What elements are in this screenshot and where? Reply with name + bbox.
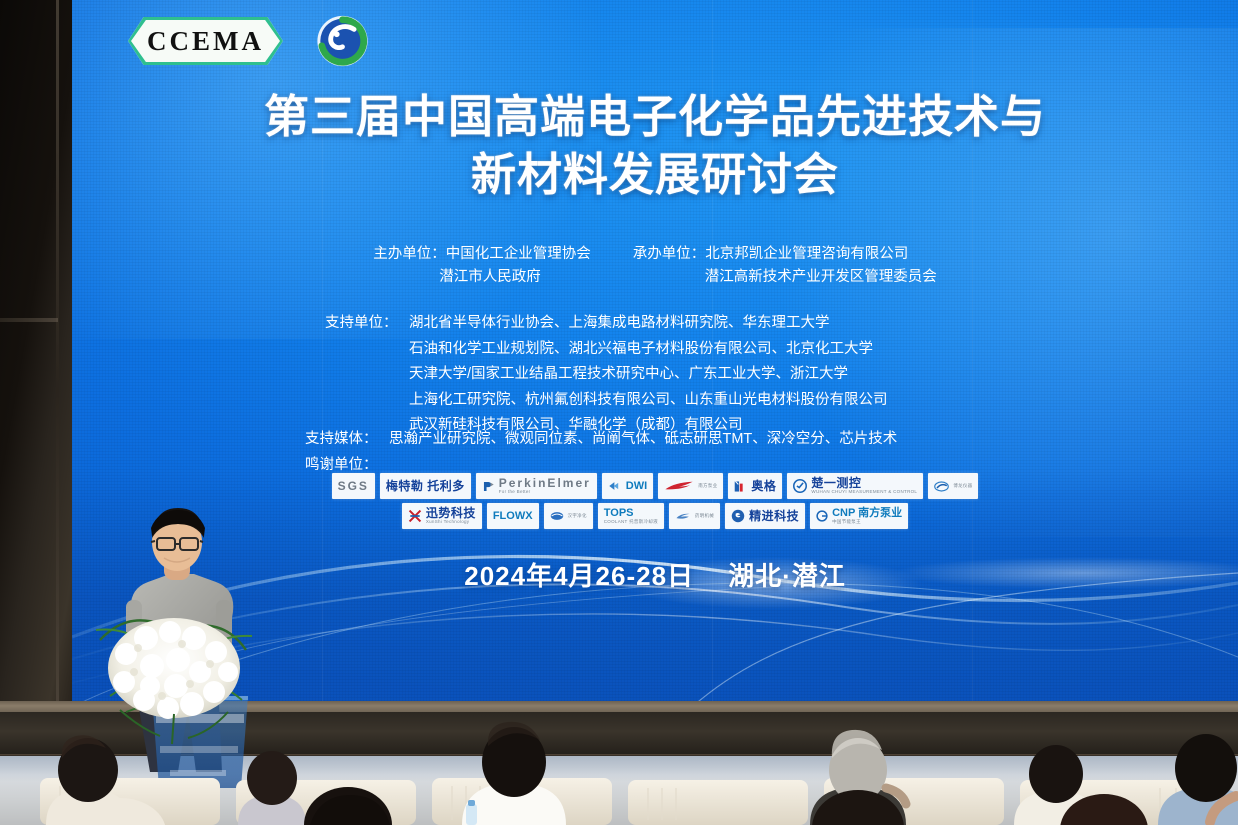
- sponsor-logo-xunshi-tech: 迅势科技XunShi Technology: [402, 503, 482, 529]
- tops-coolant-sublabel: COOLANT 托普斯冷却液: [604, 520, 658, 525]
- supporter-label: 支持单位：: [325, 311, 409, 337]
- slide-title: 第三届中国高端电子化学品先进技术与 新材料发展研讨会: [72, 88, 1238, 203]
- conference-photo: CCEMA 第三届中国高端电子化学品先进技术与 新材料发展研讨会: [0, 0, 1238, 825]
- supporter-line-2: 石油和化学工业规划院、湖北兴福电子材料股份有限公司、北京化工大学: [325, 337, 985, 363]
- jingjin-tech-icon: [731, 509, 745, 523]
- yaoming-machinery-icon: [675, 511, 691, 521]
- host-line-1: 中国化工企业管理协会: [446, 246, 591, 262]
- supporter-line-3: 天津大学/国家工业结晶工程技术研究中心、广东工业大学、浙江大学: [325, 362, 985, 388]
- tops-coolant-label: TOPS: [604, 508, 658, 519]
- host-line-2: 潜江市人民政府: [373, 266, 591, 289]
- coorganizer-line-2: 潜江高新技术产业开发区管理委员会: [633, 266, 937, 289]
- supporter-line-1: 支持单位：湖北省半导体行业协会、上海集成电路材料研究院、华东理工大学: [325, 311, 985, 337]
- mettler-toledo-label: 梅特勒 托利多: [386, 480, 465, 492]
- sponsor-logo-red-bird: 南方泵业: [658, 473, 723, 499]
- chuyi-ceko-label: 楚一测控: [811, 477, 917, 489]
- audience-foreground: [0, 700, 1238, 825]
- media-block: 支持媒体：思瀚产业研究院、微观同位素、尚阐气体、砥志研思TMT、深冷空分、芯片技…: [72, 427, 1238, 478]
- xunshi-tech-icon: [408, 509, 422, 523]
- coorganizer-column: 承办单位：北京邦凯企业管理咨询有限公司 潜江高新技术产业开发区管理委员会: [633, 243, 937, 290]
- audience-member: [462, 722, 566, 825]
- sponsor-logo-perkinelmer: PerkinElmerFor the Better: [476, 473, 597, 499]
- dwi-label: DWI: [626, 481, 647, 492]
- sponsor-row-1: SGS梅特勒 托利多PerkinElmerFor the BetterDWI南方…: [72, 473, 1238, 499]
- sponsor-logo-tops-coolant: TOPSCOOLANT 托普斯冷却液: [598, 503, 664, 529]
- bolong-icon: [934, 480, 949, 493]
- audience-member: [1158, 734, 1238, 825]
- cnp-nanfang-pump-label: CNP 南方泵业: [832, 508, 902, 519]
- cnp-nanfang-pump-icon: [816, 510, 828, 522]
- flowx-label: FLOWX: [493, 511, 533, 522]
- perkinelmer-icon: [482, 480, 495, 493]
- sponsor-logo-mettler-toledo: 梅特勒 托利多: [380, 473, 471, 499]
- coorganizer-line-1: 北京邦凯企业管理咨询有限公司: [705, 246, 908, 262]
- left-wall-seam: [56, 0, 59, 712]
- qianjiang-swirl-icon: [311, 13, 374, 69]
- hanyu-purification-icon: [550, 510, 564, 522]
- perkinelmer-label: PerkinElmer: [499, 477, 591, 489]
- sponsor-logo-hanyu-purification: 汉宇净化: [544, 503, 593, 529]
- slide-logo-bar: CCEMA: [128, 13, 374, 69]
- aoge-label: 奥格: [751, 480, 776, 492]
- sponsor-logo-dwi: DWI: [602, 473, 653, 499]
- sponsor-logo-flowx: FLOWX: [487, 503, 539, 529]
- chuyi-ceko-sublabel: WUHAN CHUYI MEASUREMENT & CONTROL: [811, 490, 917, 495]
- sponsor-logo-aoge: 奥格: [728, 473, 782, 499]
- supporter-line-4: 上海化工研究院、杭州氟创科技有限公司、山东重山光电材料股份有限公司: [325, 388, 985, 414]
- ccema-logo: CCEMA: [128, 17, 283, 65]
- dwi-icon: [608, 480, 622, 492]
- slide-title-line2: 新材料发展研讨会: [102, 146, 1208, 204]
- left-wall-panel: [0, 0, 76, 712]
- media-line: 支持媒体：思瀚产业研究院、微观同位素、尚阐气体、砥志研思TMT、深冷空分、芯片技…: [305, 427, 1005, 453]
- perkinelmer-sublabel: For the Better: [499, 490, 591, 495]
- media-label: 支持媒体：: [305, 427, 389, 453]
- cnp-nanfang-pump-sublabel: 中国节能泵王: [832, 520, 902, 525]
- aoge-icon: [734, 480, 747, 493]
- SGS-label: SGS: [338, 480, 369, 492]
- host-column: 主办单位：中国化工企业管理协会 潜江市人民政府: [373, 243, 591, 290]
- xunshi-tech-sublabel: XunShi Technology: [426, 520, 476, 525]
- event-date: 2024年4月26-28日: [464, 561, 694, 591]
- jingjin-tech-label: 精进科技: [749, 510, 799, 522]
- sponsor-logo-yaoming-machinery: 药明机械: [669, 503, 720, 529]
- sponsor-logo-chuyi-ceko: 楚一测控WUHAN CHUYI MEASUREMENT & CONTROL: [787, 473, 923, 499]
- organizer-block: 主办单位：中国化工企业管理协会 潜江市人民政府 承办单位：北京邦凯企业管理咨询有…: [72, 243, 1238, 290]
- xunshi-tech-label: 迅势科技: [426, 507, 476, 519]
- bolong-sublabel: 博龙仪器: [953, 484, 972, 489]
- chuyi-ceko-icon: [793, 479, 807, 493]
- supporter-text-1: 湖北省半导体行业协会、上海集成电路材料研究院、华东理工大学: [409, 315, 830, 331]
- red-bird-sublabel: 南方泵业: [698, 484, 717, 489]
- sponsor-logo-cnp-nanfang-pump: CNP 南方泵业中国节能泵王: [810, 503, 908, 529]
- media-text: 思瀚产业研究院、微观同位素、尚阐气体、砥志研思TMT、深冷空分、芯片技术: [389, 431, 897, 447]
- supporter-block: 支持单位：湖北省半导体行业协会、上海集成电路材料研究院、华东理工大学 石油和化学…: [72, 311, 1238, 439]
- coorganizer-label: 承办单位：: [633, 246, 706, 262]
- red-bird-icon: [664, 480, 694, 493]
- event-place: 湖北·潜江: [728, 561, 846, 591]
- sponsor-logo-jingjin-tech: 精进科技: [725, 503, 805, 529]
- left-wall-band: [0, 318, 58, 322]
- ccema-logo-label: CCEMA: [147, 26, 264, 57]
- sponsor-logo-bolong: 博龙仪器: [928, 473, 978, 499]
- host-label: 主办单位：: [373, 246, 446, 262]
- slide-title-line1: 第三届中国高端电子化学品先进技术与: [264, 91, 1046, 142]
- yaoming-machinery-sublabel: 药明机械: [695, 514, 714, 519]
- sponsor-logo-SGS: SGS: [332, 473, 375, 499]
- hanyu-purification-sublabel: 汉宇净化: [568, 514, 587, 519]
